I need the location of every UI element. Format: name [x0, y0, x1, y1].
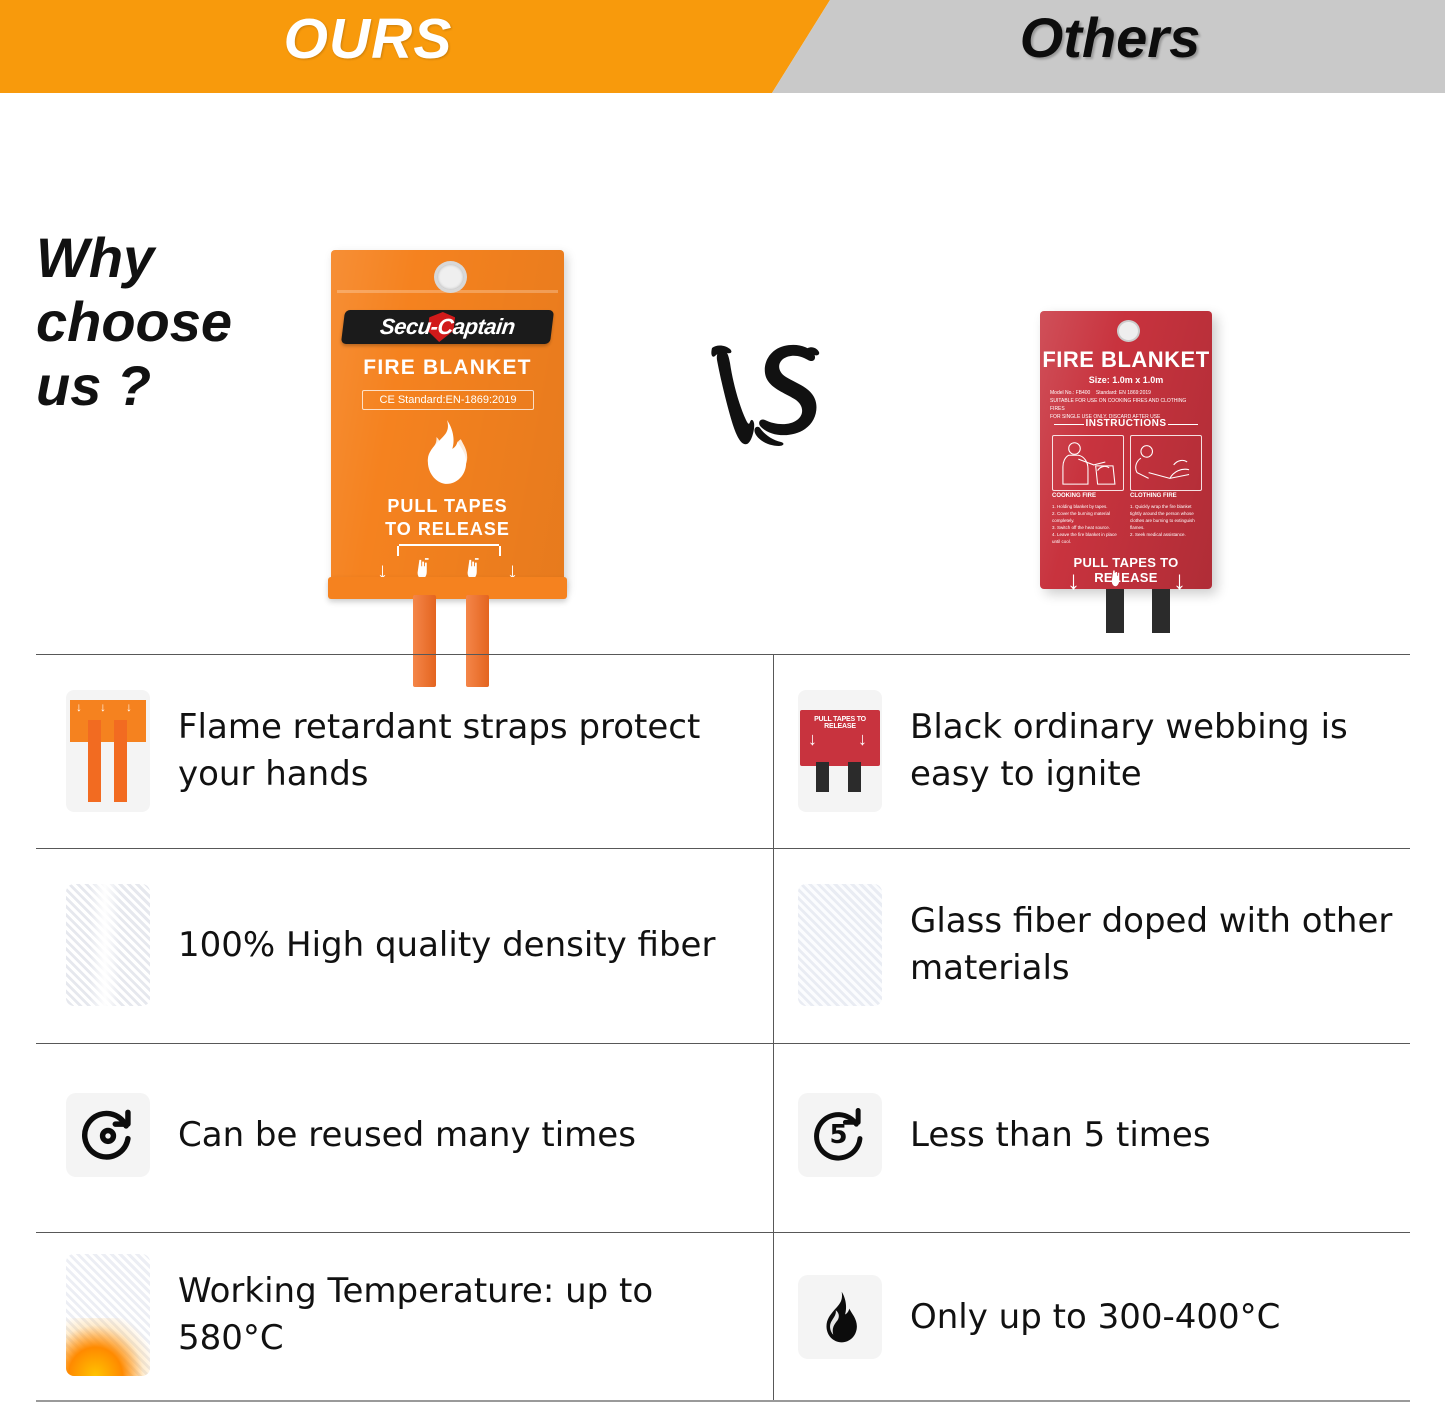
feature-text: Working Temperature: up to 580°C: [178, 1268, 756, 1362]
usage-line-1: SUITABLE FOR USE ON COOKING FIRES AND CL…: [1050, 397, 1202, 413]
table-row: 100% High quality density fiber: [66, 882, 756, 1008]
release-instruction: PULL TAPES TO RELEASE: [331, 495, 564, 541]
orange-straps-thumbnail: ↓↓↓: [66, 690, 150, 812]
standard-label: Standard: EN 1869:2019: [1096, 390, 1151, 396]
down-arrow-icon: ↓: [1066, 569, 1081, 591]
headline-line-1: Why: [36, 226, 336, 290]
table-row: Glass fiber doped with other materials: [798, 882, 1398, 1008]
hero-section: Why choose us ? Secu-Captain FIRE BLANKE…: [0, 93, 1445, 653]
panel-steps-cooking: 1. Holding blanket by tapes. 2. Cover th…: [1052, 503, 1124, 545]
instruction-panel-cooking: [1052, 435, 1124, 491]
thumb-label: PULL TAPES TO RELEASE: [800, 716, 880, 730]
instructions-heading: INSTRUCTIONS: [1040, 418, 1212, 429]
table-row: Only up to 300-400°C: [798, 1262, 1398, 1372]
hanging-grommet-icon: [1117, 320, 1140, 342]
feature-text: Glass fiber doped with other materials: [910, 898, 1398, 992]
panel-caption-cooking: COOKING FIRE: [1052, 493, 1124, 499]
row-divider: [36, 848, 1410, 849]
down-arrow-icon: ↓: [1172, 569, 1187, 591]
page-title: Why choose us ?: [36, 226, 336, 418]
white-woven-fiber-thumbnail: [66, 884, 150, 1006]
brand-name: Secu-Captain: [341, 310, 554, 344]
panel-caption-clothing: CLOTHING FIRE: [1130, 493, 1202, 499]
release-strap: [413, 595, 436, 687]
feature-text: 100% High quality density fiber: [178, 922, 715, 969]
black-webbing-strap: [1106, 589, 1124, 633]
flame-icon: [409, 418, 485, 486]
model-no: Model No.: FB400: [1050, 390, 1090, 396]
reuse-arrow-icon: [66, 1093, 150, 1177]
bracket-graphic: [397, 546, 501, 556]
other-product-package: FIRE BLANKET Size: 1.0m x 1.0m Model No.…: [1040, 311, 1212, 589]
column-divider: [773, 654, 774, 1400]
our-product-package: Secu-Captain FIRE BLANKET CE Standard:EN…: [331, 250, 564, 590]
feature-text: Can be reused many times: [178, 1112, 636, 1159]
feature-text: Less than 5 times: [910, 1112, 1211, 1159]
release-line-2: TO RELEASE: [385, 519, 510, 539]
icon-number: 5: [829, 1120, 847, 1150]
table-row: PULL TAPES TO RELEASE ↓↓ Black ordinary …: [798, 688, 1398, 814]
feature-text: Flame retardant straps protect your hand…: [178, 704, 756, 798]
feature-text: Only up to 300-400°C: [910, 1294, 1280, 1341]
black-webbing-strap: [1152, 589, 1170, 633]
package-tray: [328, 577, 567, 599]
headline-line-2: choose: [36, 290, 336, 354]
flame-icon: [798, 1275, 882, 1359]
header-band: OURS Others: [0, 0, 1445, 93]
hanging-grommet-icon: [434, 261, 467, 293]
black-webbing-thumbnail: PULL TAPES TO RELEASE ↓↓: [798, 690, 882, 812]
row-divider: [36, 1232, 1410, 1233]
ours-label: OURS: [248, 6, 488, 72]
panel-steps-clothing: 1. Quickly wrap the fire blanket tightly…: [1130, 503, 1202, 538]
table-row: 5 Less than 5 times: [798, 1072, 1398, 1198]
product-size: Size: 1.0m x 1.0m: [1040, 375, 1212, 385]
table-row: Can be reused many times: [66, 1072, 756, 1198]
instruction-panel-clothing: [1130, 435, 1202, 491]
table-row: Working Temperature: up to 580°C: [66, 1252, 756, 1378]
release-line-1: PULL TAPES: [387, 496, 507, 516]
pulling-hand-icon: [1108, 567, 1130, 591]
release-strap: [466, 595, 489, 687]
row-divider: [36, 1043, 1410, 1044]
row-divider: [36, 654, 1410, 655]
standard-label: CE Standard:EN-1869:2019: [362, 390, 534, 410]
product-meta: Model No.: FB400 Standard: EN 1869:2019 …: [1050, 389, 1202, 421]
product-title: FIRE BLANKET: [1040, 347, 1212, 373]
headline-line-3: us ?: [36, 354, 336, 418]
fabric-with-flames-thumbnail: [66, 1254, 150, 1376]
product-title: FIRE BLANKET: [331, 356, 564, 380]
row-divider: [36, 1400, 1410, 1402]
table-row: ↓↓↓ Flame retardant straps protect your …: [66, 688, 756, 814]
reuse-arrow-5-icon: 5: [798, 1093, 882, 1177]
vs-logo: [700, 336, 840, 456]
feature-text: Black ordinary webbing is easy to ignite: [910, 704, 1398, 798]
others-label: Others: [960, 5, 1260, 70]
pale-glass-fiber-thumbnail: [798, 884, 882, 1006]
